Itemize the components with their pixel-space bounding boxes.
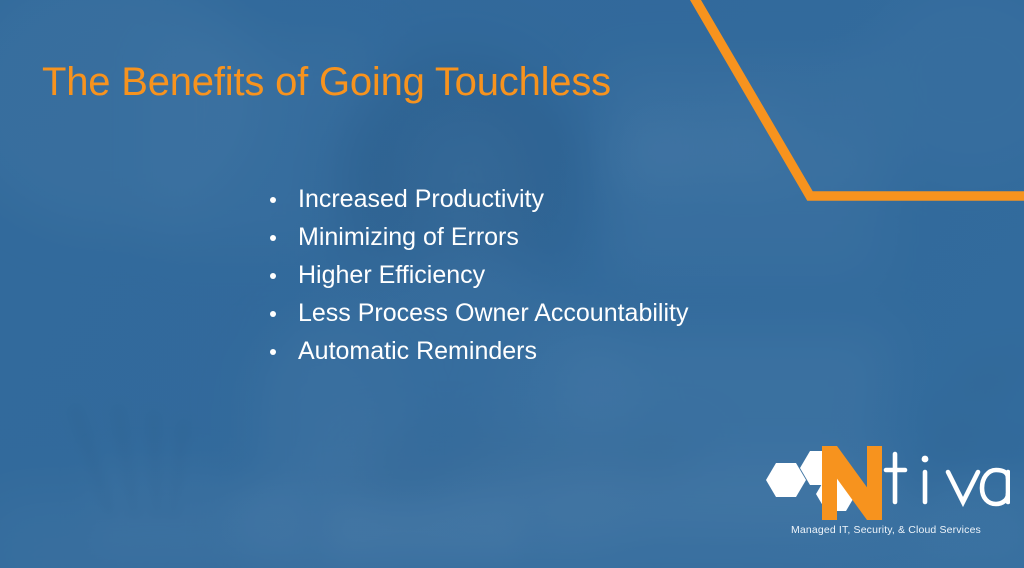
list-item-label: Minimizing of Errors bbox=[298, 223, 519, 251]
logo-tagline: Managed IT, Security, & Cloud Services bbox=[762, 524, 1010, 536]
bullet-dot-icon bbox=[270, 349, 276, 355]
list-item: Higher Efficiency bbox=[268, 260, 688, 291]
page-title: The Benefits of Going Touchless bbox=[42, 60, 611, 105]
list-item-label: Increased Productivity bbox=[298, 185, 544, 213]
bullet-dot-icon bbox=[270, 235, 276, 241]
list-item: Increased Productivity bbox=[268, 184, 688, 215]
bullet-dot-icon bbox=[270, 273, 276, 279]
list-item-label: Less Process Owner Accountability bbox=[298, 299, 688, 327]
list-item-label: Higher Efficiency bbox=[298, 261, 485, 289]
letter-n-icon bbox=[822, 446, 882, 520]
list-item: Automatic Reminders bbox=[268, 336, 688, 367]
ntiva-logo: Managed IT, Security, & Cloud Services bbox=[762, 446, 1010, 550]
letters-tiva-icon bbox=[886, 454, 1008, 504]
list-item: Minimizing of Errors bbox=[268, 222, 688, 253]
list-item: Less Process Owner Accountability bbox=[268, 298, 688, 329]
ntiva-logo-mark-icon bbox=[762, 446, 1010, 524]
list-item-label: Automatic Reminders bbox=[298, 337, 537, 365]
bullet-dot-icon bbox=[270, 197, 276, 203]
benefits-list: Increased Productivity Minimizing of Err… bbox=[268, 184, 688, 374]
slide-canvas: The Benefits of Going Touchless Increase… bbox=[0, 0, 1024, 568]
letter-i-dot-icon bbox=[922, 456, 929, 463]
hexagon-icon bbox=[766, 463, 806, 497]
bullet-dot-icon bbox=[270, 311, 276, 317]
